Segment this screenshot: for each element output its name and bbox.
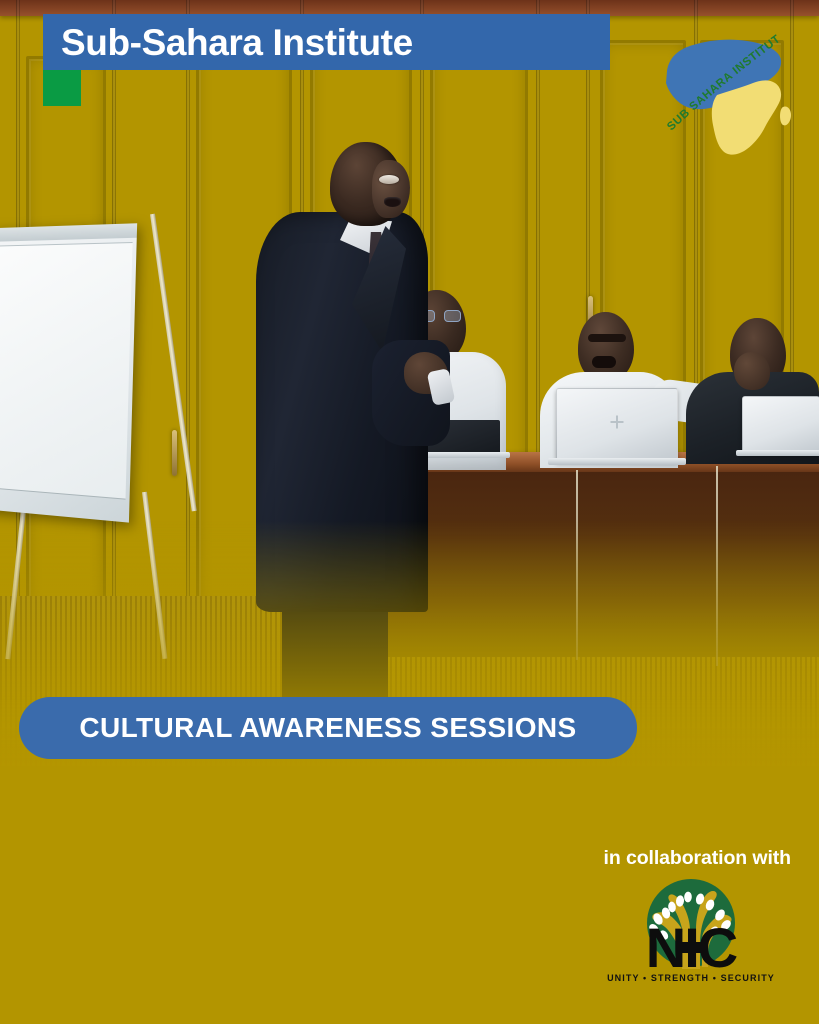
poster-canvas: Sub-Sahara Institute SUB SAHARA INSTITUT… <box>0 0 819 1024</box>
laptop-3-lid <box>742 396 819 454</box>
presenter-face <box>372 160 410 218</box>
laptop-logo-icon <box>611 416 624 429</box>
accent-square <box>43 69 81 106</box>
nic-logo: NIC UNITY • STRENGTH • SECURITY <box>596 875 786 985</box>
laptop-2-base <box>548 458 686 465</box>
participant-3-hand <box>734 352 770 390</box>
flipchart-sheet <box>0 242 133 500</box>
laptop-3-base <box>736 450 819 456</box>
presenter-mouth <box>384 197 401 207</box>
collaboration-label: in collaboration with <box>604 847 791 870</box>
laptop-2-lid <box>556 388 678 462</box>
title-banner: Sub-Sahara Institute <box>43 14 610 70</box>
presenter-eye <box>379 175 399 184</box>
africa-map-logo: SUB SAHARA INSTITUTE <box>655 33 803 163</box>
nic-tagline: UNITY • STRENGTH • SECURITY <box>607 973 775 983</box>
nic-i-bar <box>680 942 708 953</box>
madagascar-shape <box>780 106 791 125</box>
power-cable <box>576 470 578 660</box>
flipchart-board <box>0 223 137 522</box>
footer-band: in collaboration with <box>0 790 819 1024</box>
table-front-panel <box>378 472 819 657</box>
panel-seam <box>186 0 190 640</box>
session-title-label: CULTURAL AWARENESS SESSIONS <box>79 712 576 744</box>
page-title: Sub-Sahara Institute <box>43 24 413 61</box>
door-handle <box>172 430 177 476</box>
power-cable <box>716 466 718 666</box>
participant-2-mouth <box>592 356 616 368</box>
session-title-pill: CULTURAL AWARENESS SESSIONS <box>19 697 637 759</box>
participant-2-brow <box>588 334 626 342</box>
